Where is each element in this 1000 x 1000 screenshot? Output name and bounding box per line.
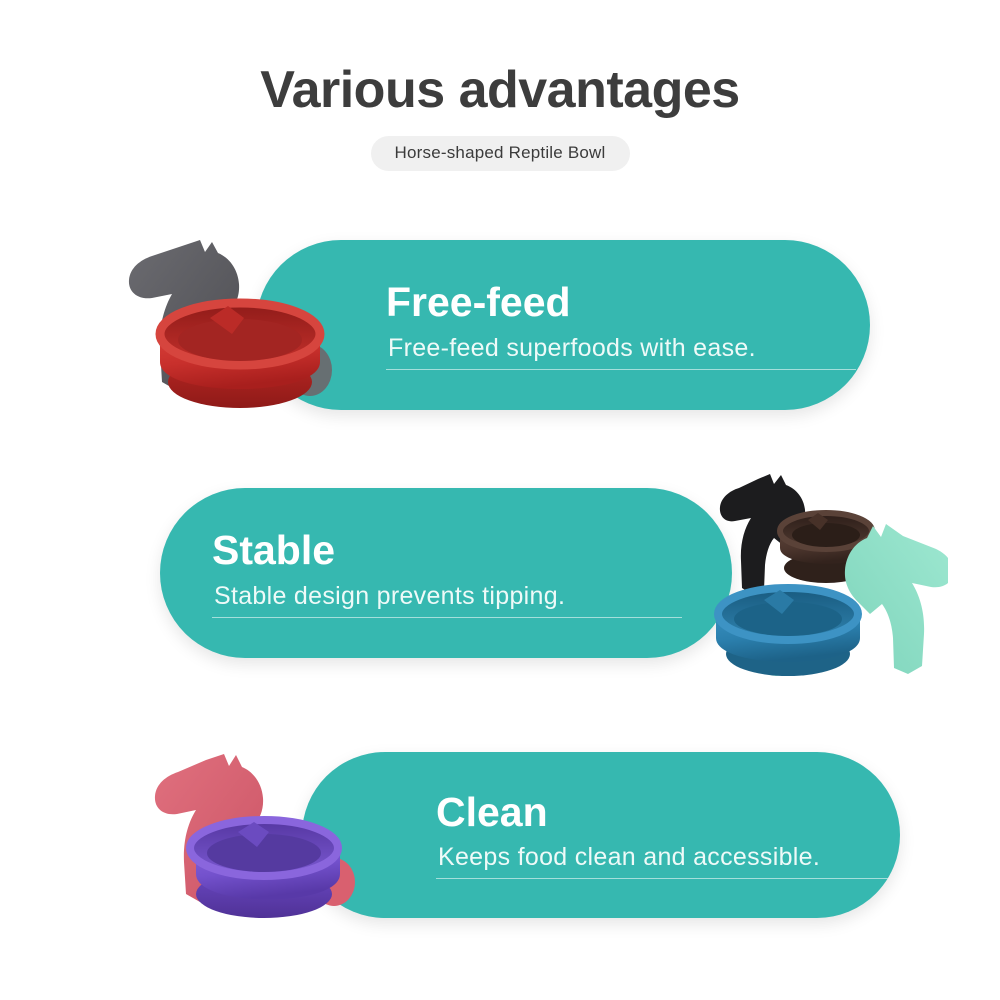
card-content-stable: Stable Stable design prevents tipping.	[160, 488, 732, 658]
product-image-free-feed	[104, 222, 364, 422]
card-subtitle-stable: Stable design prevents tipping.	[214, 584, 565, 609]
card-heading-stable: Stable	[212, 530, 335, 571]
card-subtitle-free-feed: Free-feed superfoods with ease.	[388, 336, 756, 361]
silicone-bowl-icon	[160, 300, 320, 408]
card-divider-stable	[212, 617, 682, 618]
product-bowl-purple-with-pink-horse-icon	[140, 740, 420, 932]
silicone-bowl-icon	[716, 585, 860, 676]
product-bowl-red-with-grey-horse-icon	[104, 222, 364, 422]
card-subtitle-clean: Keeps food clean and accessible.	[438, 845, 820, 870]
card-heading-clean: Clean	[436, 792, 548, 833]
subtitle-pill-container: Horse-shaped Reptile Bowl	[0, 136, 1000, 171]
product-image-clean	[140, 740, 420, 932]
advantages-page: Various advantages Horse-shaped Reptile …	[0, 0, 1000, 1000]
card-divider-clean	[436, 878, 900, 879]
card-heading-free-feed: Free-feed	[386, 282, 571, 323]
page-title: Various advantages	[0, 62, 1000, 119]
product-image-stable	[648, 458, 948, 680]
card-divider-free-feed	[386, 369, 856, 370]
silicone-bowl-icon	[190, 817, 340, 918]
product-bowls-brown-and-blue-icon	[648, 458, 948, 680]
advantage-card-stable: Stable Stable design prevents tipping.	[160, 488, 732, 658]
product-name-badge: Horse-shaped Reptile Bowl	[371, 136, 630, 171]
